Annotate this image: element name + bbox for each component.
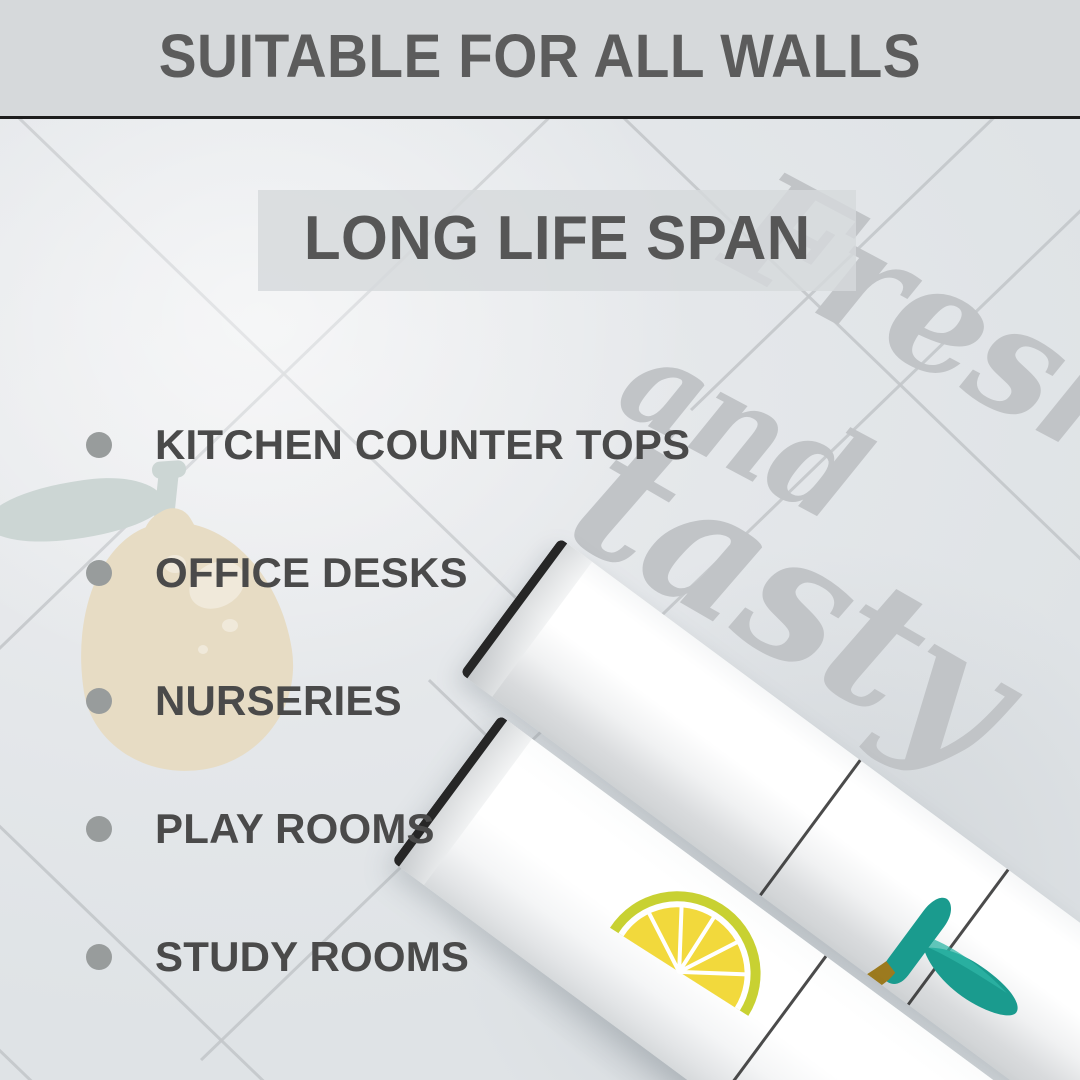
product-infographic: SUITABLE FOR ALL WALLS Fresh and tasty (0, 0, 1080, 1080)
list-item-label: NURSERIES (155, 680, 402, 722)
header-band: SUITABLE FOR ALL WALLS (0, 0, 1080, 119)
photo-stage: Fresh and tasty (0, 119, 1080, 1080)
list-item-label: KITCHEN COUNTER TOPS (155, 424, 690, 466)
list-item-label: PLAY ROOMS (155, 808, 435, 850)
section-title: LONG LIFE SPAN (304, 208, 811, 274)
page-title: SUITABLE FOR ALL WALLS (159, 26, 921, 91)
list-item-label: OFFICE DESKS (155, 552, 468, 594)
list-item: PLAY ROOMS (86, 765, 786, 893)
feature-list: KITCHEN COUNTER TOPS OFFICE DESKS NURSER… (86, 381, 786, 1021)
list-item: OFFICE DESKS (86, 509, 786, 637)
list-item-label: STUDY ROOMS (155, 936, 469, 978)
bullet-dot-icon (86, 816, 112, 842)
bullet-dot-icon (86, 944, 112, 970)
bullet-dot-icon (86, 560, 112, 586)
list-item: KITCHEN COUNTER TOPS (86, 381, 786, 509)
list-item: STUDY ROOMS (86, 893, 786, 1021)
bullet-dot-icon (86, 688, 112, 714)
bullet-dot-icon (86, 432, 112, 458)
list-item: NURSERIES (86, 637, 786, 765)
section-title-band: LONG LIFE SPAN (258, 190, 856, 291)
grout-line (0, 119, 1021, 169)
